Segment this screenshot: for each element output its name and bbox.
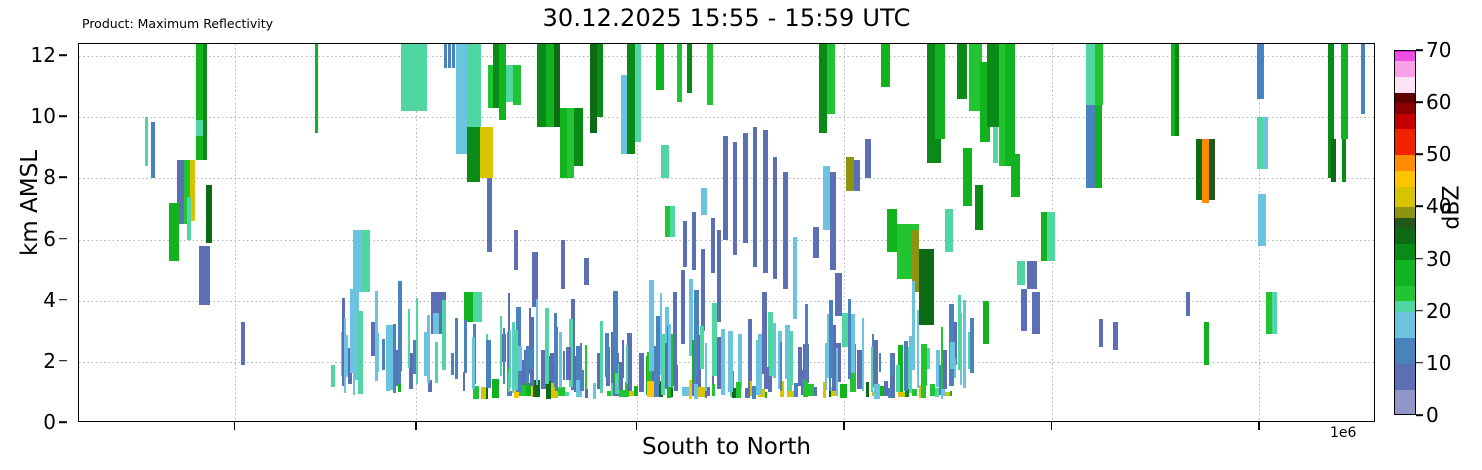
colorbar-tick-label: 0 (1426, 403, 1439, 427)
reflectivity-column (701, 188, 707, 216)
reflectivity-column (492, 379, 499, 398)
y-tick-label: 6 (43, 227, 56, 251)
y-tick-label: 4 (43, 288, 56, 312)
reflectivity-column (196, 44, 203, 160)
reflectivity-column (315, 44, 318, 133)
reflectivity-column (401, 44, 427, 111)
reflectivity-column (753, 127, 757, 268)
colorbar (1394, 50, 1416, 415)
reflectivity-column (1113, 322, 1118, 350)
reflectivity-column (1204, 322, 1209, 365)
reflectivity-column (773, 157, 777, 279)
colorbar-segment (1395, 51, 1415, 52)
reflectivity-column (514, 330, 518, 389)
colorbar-segment (1395, 187, 1415, 208)
reflectivity-column (692, 212, 696, 270)
reflectivity-column (464, 292, 473, 323)
reflectivity-column (145, 117, 148, 166)
reflectivity-column (819, 44, 827, 133)
reflectivity-column (1005, 44, 1015, 166)
colorbar-segment (1395, 61, 1415, 77)
reflectivity-column (712, 384, 715, 396)
reflectivity-column (830, 172, 836, 270)
colorbar-segment (1395, 312, 1415, 338)
reflectivity-column (514, 230, 518, 270)
x-axis-label: South to North (78, 434, 1375, 460)
colorbar-tick-label: 10 (1426, 351, 1451, 375)
colorbar-segment (1395, 103, 1415, 113)
reflectivity-column (509, 330, 511, 387)
colorbar-gradient (1394, 50, 1416, 415)
reflectivity-column (517, 346, 522, 370)
reflectivity-column (558, 387, 565, 397)
reflectivity-column (829, 300, 833, 378)
reflectivity-column (945, 209, 953, 252)
reflectivity-column (427, 315, 430, 383)
reflectivity-column (567, 108, 574, 178)
reflectivity-column (674, 365, 678, 390)
y-tick-label: 2 (43, 349, 56, 373)
reflectivity-column (1361, 44, 1365, 114)
reflectivity-column (362, 230, 370, 291)
colorbar-segment (1395, 301, 1415, 311)
reflectivity-column (671, 388, 673, 398)
reflectivity-column (871, 347, 873, 392)
reflectivity-column (1175, 44, 1179, 136)
colorbar-tick-mark (1416, 310, 1423, 312)
reflectivity-columns (79, 44, 1374, 421)
reflectivity-column (1258, 194, 1266, 246)
reflectivity-column (1209, 139, 1215, 200)
reflectivity-column (764, 367, 769, 389)
colorbar-tick-mark (1416, 153, 1423, 155)
reflectivity-column (801, 370, 803, 396)
y-tick-mark (59, 177, 67, 179)
reflectivity-column (536, 299, 538, 385)
reflectivity-column (561, 240, 565, 289)
reflectivity-column (950, 391, 952, 396)
reflectivity-column (408, 309, 410, 368)
reflectivity-column (827, 44, 835, 114)
colorbar-segment (1395, 77, 1415, 93)
reflectivity-column (1272, 292, 1277, 335)
x-tick-mark (1051, 422, 1053, 430)
reflectivity-column (698, 387, 705, 397)
reflectivity-column (661, 334, 665, 395)
reflectivity-column (199, 246, 210, 306)
reflectivity-column (656, 44, 664, 90)
reflectivity-column (656, 316, 660, 370)
reflectivity-column (912, 389, 917, 396)
x-tick-mark (636, 422, 638, 430)
reflectivity-column (480, 127, 493, 179)
reflectivity-column (151, 122, 155, 179)
reflectivity-column (647, 381, 654, 397)
reflectivity-column (448, 44, 451, 68)
reflectivity-column (935, 44, 945, 139)
reflectivity-column (728, 331, 733, 392)
y-tick-mark (59, 238, 67, 240)
reflectivity-column (597, 44, 603, 117)
reflectivity-column (682, 387, 689, 396)
reflectivity-column (473, 292, 482, 323)
reflectivity-column (487, 178, 492, 251)
reflectivity-column (639, 353, 644, 393)
product-annotation: Product: Maximum Reflectivity (82, 16, 273, 31)
reflectivity-column (1021, 289, 1027, 332)
y-tick-mark (59, 299, 67, 301)
reflectivity-column (331, 365, 335, 387)
reflectivity-column (701, 249, 705, 332)
reflectivity-column (513, 65, 521, 105)
reflectivity-column (921, 385, 926, 398)
reflectivity-column (634, 386, 638, 396)
y-axis-label: km AMSL (17, 83, 43, 323)
reflectivity-column (622, 340, 624, 378)
reflectivity-column (898, 392, 905, 397)
reflectivity-column (559, 332, 562, 388)
reflectivity-column (854, 160, 860, 191)
reflectivity-column (836, 348, 838, 395)
colorbar-segment (1395, 260, 1415, 286)
reflectivity-column (1086, 105, 1095, 188)
reflectivity-column (546, 44, 554, 127)
reflectivity-column (585, 389, 588, 398)
reflectivity-column (486, 340, 491, 388)
colorbar-tick-label: 60 (1426, 90, 1451, 114)
reflectivity-column (1342, 139, 1346, 182)
reflectivity-column (963, 300, 966, 389)
reflectivity-column (723, 136, 728, 240)
reflectivity-column (896, 365, 900, 392)
reflectivity-column (593, 383, 596, 399)
reflectivity-column (1086, 44, 1095, 105)
x-axis-exponent: 1e6 (1330, 425, 1356, 441)
colorbar-segment (1395, 218, 1415, 228)
reflectivity-column (773, 323, 776, 378)
reflectivity-column (891, 382, 895, 398)
reflectivity-column (1099, 319, 1103, 347)
reflectivity-column (627, 44, 635, 154)
y-tick-mark (59, 421, 67, 423)
reflectivity-column (874, 351, 878, 384)
reflectivity-column (1017, 261, 1025, 285)
reflectivity-column (862, 318, 864, 391)
x-tick-mark (1258, 422, 1260, 430)
reflectivity-column (1257, 44, 1264, 99)
reflectivity-column (206, 185, 212, 243)
reflectivity-column (705, 343, 707, 390)
reflectivity-column (957, 44, 967, 99)
colorbar-tick-label: 70 (1426, 38, 1451, 62)
reflectivity-column (1202, 139, 1209, 203)
reflectivity-column (717, 230, 721, 322)
reflectivity-column (1027, 261, 1037, 289)
reflectivity-column (963, 148, 972, 206)
x-tick-mark (415, 422, 417, 430)
reflectivity-column (687, 44, 692, 93)
reflectivity-column (393, 324, 396, 394)
reflectivity-column (794, 383, 798, 397)
colorbar-segment (1395, 129, 1415, 155)
colorbar-segment (1395, 390, 1415, 415)
reflectivity-column (1011, 154, 1020, 197)
reflectivity-column (1047, 212, 1055, 261)
reflectivity-column (661, 145, 669, 179)
colorbar-segment (1395, 228, 1415, 244)
reflectivity-column (904, 341, 908, 391)
reflectivity-column (887, 209, 897, 252)
reflectivity-column (613, 291, 618, 372)
reflectivity-column (528, 349, 533, 369)
reflectivity-column (939, 365, 941, 395)
colorbar-segment (1395, 93, 1415, 103)
reflectivity-column (399, 349, 401, 382)
reflectivity-column (917, 310, 919, 388)
reflectivity-column (451, 353, 454, 374)
reflectivity-column (416, 298, 418, 385)
reflectivity-column (585, 345, 587, 389)
reflectivity-column (600, 321, 603, 393)
reflectivity-column (805, 304, 808, 382)
reflectivity-column (574, 108, 583, 166)
plot-area (78, 43, 1375, 422)
reflectivity-column (712, 303, 717, 376)
reflectivity-column (433, 313, 439, 334)
reflectivity-column (554, 313, 557, 386)
reflectivity-column (671, 334, 673, 388)
reflectivity-column (499, 44, 506, 120)
reflectivity-column (756, 342, 761, 395)
reflectivity-column (912, 281, 915, 370)
reflectivity-column (1095, 105, 1102, 188)
reflectivity-column (823, 166, 830, 230)
reflectivity-column (890, 356, 894, 376)
reflectivity-column (958, 295, 961, 369)
y-tick-label: 0 (43, 410, 56, 434)
reflectivity-column (840, 384, 847, 398)
reflectivity-column (711, 218, 715, 273)
reflectivity-column (780, 342, 782, 391)
colorbar-segment (1395, 207, 1415, 217)
colorbar-segment (1395, 244, 1415, 260)
reflectivity-column (927, 348, 930, 369)
reflectivity-column (649, 280, 654, 371)
reflectivity-column (413, 340, 416, 373)
reflectivity-column (464, 320, 467, 373)
reflectivity-column (783, 172, 788, 288)
colorbar-segment (1395, 155, 1415, 171)
reflectivity-column (668, 324, 671, 387)
colorbar-segment (1395, 114, 1415, 130)
reflectivity-column (846, 157, 854, 191)
reflectivity-column (851, 314, 855, 373)
reflectivity-column (765, 392, 767, 398)
reflectivity-column (677, 44, 682, 102)
reflectivity-column (950, 342, 955, 369)
reflectivity-column (975, 185, 983, 231)
reflectivity-column (241, 322, 245, 365)
reflectivity-column (452, 44, 455, 68)
reflectivity-column (721, 329, 725, 395)
reflectivity-column (626, 345, 628, 384)
reflectivity-column (790, 331, 793, 385)
reflectivity-column (472, 337, 475, 389)
reflectivity-column (793, 237, 797, 320)
reflectivity-column (673, 292, 677, 365)
reflectivity-column (881, 44, 890, 87)
reflectivity-column (545, 308, 549, 384)
reflectivity-column (935, 388, 939, 397)
reflectivity-column (814, 387, 817, 396)
reflectivity-column (627, 333, 632, 392)
colorbar-segment (1395, 286, 1415, 302)
reflectivity-column (196, 120, 203, 135)
reflectivity-column (1186, 292, 1190, 316)
reflectivity-column (698, 335, 700, 387)
reflectivity-column (879, 353, 881, 372)
reflectivity-column (566, 347, 571, 380)
colorbar-tick-mark (1416, 101, 1423, 103)
reflectivity-column (743, 133, 748, 243)
reflectivity-column (442, 300, 446, 370)
reflectivity-column (1341, 44, 1348, 139)
colorbar-tick-mark (1416, 362, 1423, 364)
reflectivity-column (866, 382, 869, 397)
reflectivity-column (785, 325, 790, 379)
reflectivity-column (537, 44, 546, 127)
reflectivity-column (1331, 139, 1336, 182)
colorbar-tick-mark (1416, 49, 1423, 51)
reflectivity-column (813, 227, 819, 258)
y-tick-mark (59, 116, 67, 118)
reflectivity-column (681, 270, 685, 343)
x-tick-mark (234, 422, 236, 430)
y-tick-mark (59, 54, 67, 56)
y-tick-label: 8 (43, 165, 56, 189)
reflectivity-column (983, 301, 989, 344)
reflectivity-column (707, 44, 713, 105)
radar-cross-section-figure: 30.12.2025 15:55 - 15:59 UTC Product: Ma… (0, 0, 1482, 470)
reflectivity-column (670, 206, 675, 237)
reflectivity-column (736, 382, 741, 398)
reflectivity-column (169, 203, 179, 261)
y-tick-mark (59, 360, 67, 362)
colorbar-segment (1395, 171, 1415, 187)
reflectivity-column (463, 372, 465, 391)
reflectivity-column (835, 273, 842, 316)
reflectivity-column (444, 44, 447, 68)
colorbar-segment (1395, 338, 1415, 364)
reflectivity-column (386, 325, 390, 391)
reflectivity-column (203, 44, 207, 160)
reflectivity-column (970, 318, 974, 374)
reflectivity-column (733, 142, 737, 255)
reflectivity-column (353, 230, 362, 291)
reflectivity-column (503, 328, 505, 383)
colorbar-label: dBZ (1440, 138, 1465, 278)
reflectivity-column (1263, 117, 1268, 169)
x-tick-mark (843, 422, 845, 430)
reflectivity-column (358, 311, 363, 394)
reflectivity-column (635, 44, 641, 142)
colorbar-tick-label: 20 (1426, 299, 1451, 323)
reflectivity-column (187, 197, 191, 240)
reflectivity-column (1095, 44, 1103, 105)
reflectivity-column (700, 326, 704, 369)
reflectivity-column (435, 342, 438, 384)
reflectivity-column (683, 221, 687, 267)
colorbar-tick-mark (1416, 206, 1423, 208)
reflectivity-column (763, 130, 768, 274)
reflectivity-column (382, 339, 385, 370)
reflectivity-column (455, 318, 458, 379)
reflectivity-column (738, 334, 742, 389)
colorbar-segment (1395, 364, 1415, 390)
reflectivity-column (500, 316, 502, 376)
reflectivity-column (825, 343, 827, 390)
reflectivity-column (762, 292, 767, 374)
colorbar-tick-mark (1416, 414, 1423, 416)
reflectivity-column (350, 289, 354, 373)
colorbar-tick-mark (1416, 258, 1423, 260)
reflectivity-column (993, 127, 998, 164)
y-tick-label: 12 (31, 43, 56, 67)
reflectivity-column (506, 65, 513, 102)
colorbar-segment (1395, 51, 1415, 61)
reflectivity-column (707, 387, 710, 396)
reflectivity-column (344, 335, 348, 377)
reflectivity-column (1032, 292, 1040, 335)
reflectivity-column (919, 249, 934, 325)
reflectivity-column (865, 139, 871, 179)
reflectivity-column (584, 258, 589, 286)
reflectivity-column (467, 127, 480, 182)
reflectivity-column (590, 44, 597, 133)
reflectivity-column (580, 343, 582, 390)
reflectivity-column (565, 392, 569, 396)
reflectivity-column (376, 333, 379, 372)
reflectivity-column (787, 391, 794, 396)
reflectivity-column (605, 333, 609, 377)
